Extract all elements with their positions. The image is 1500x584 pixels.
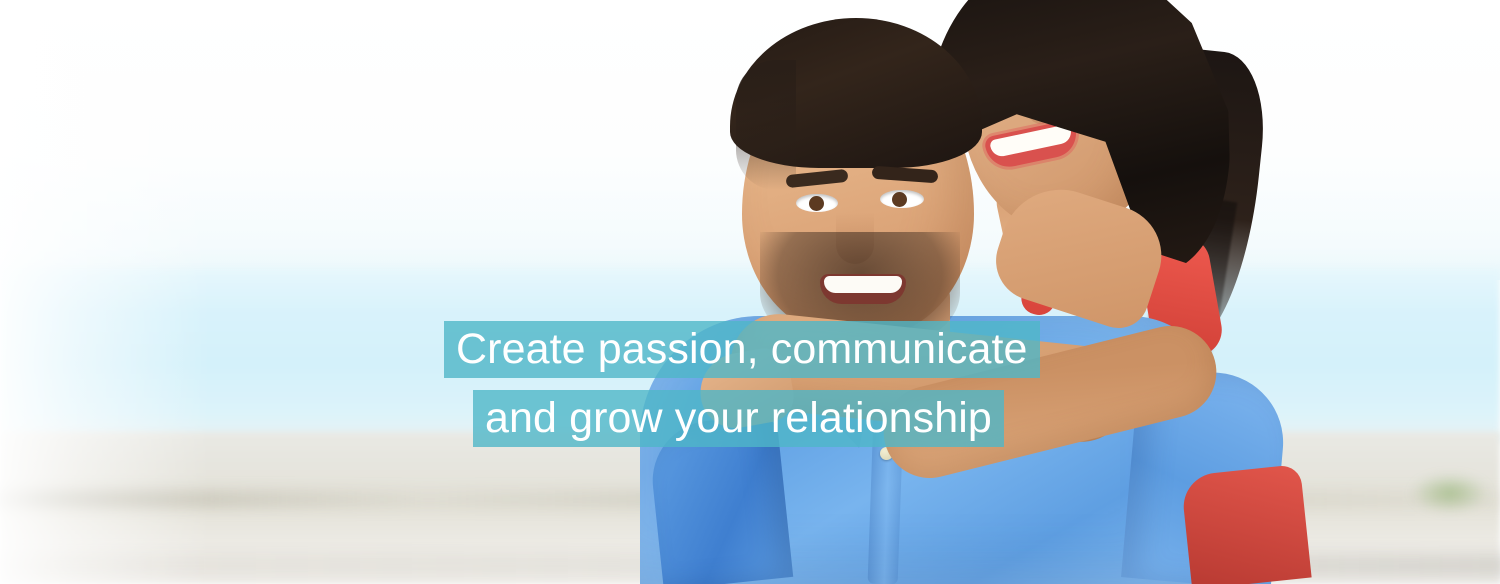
man-eye-right [880, 190, 924, 208]
woman-swimsuit-lower [1180, 464, 1311, 584]
man-mouth [820, 274, 906, 304]
man-eye-left [796, 194, 838, 212]
caption-line-2: and grow your relationship [473, 390, 1004, 447]
caption-line-1: Create passion, communicate [444, 321, 1040, 378]
man-teeth [824, 276, 902, 293]
couple-illustration [0, 0, 1500, 584]
hero-banner: Create passion, communicate and grow you… [0, 0, 1500, 584]
man-sideburn [736, 60, 796, 190]
